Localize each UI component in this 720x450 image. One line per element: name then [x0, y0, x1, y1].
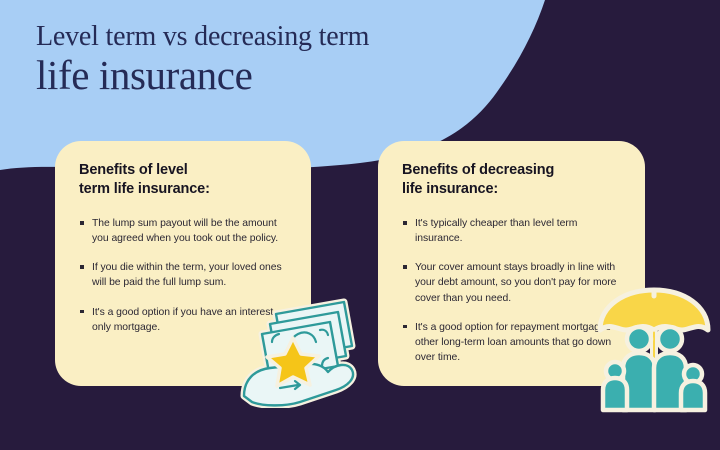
bullet-dot-icon	[80, 310, 84, 314]
list-item: The lump sum payout will be the amount y…	[79, 216, 289, 246]
bullet-dot-icon	[403, 325, 407, 329]
list-item-text: It's typically cheaper than level term i…	[415, 218, 577, 244]
list-item-text: It's a good option for repayment mortgag…	[415, 322, 623, 363]
title-line-1: Level term vs decreasing term	[36, 22, 506, 52]
list-item: It's typically cheaper than level term i…	[402, 216, 623, 246]
bullet-dot-icon	[80, 221, 84, 225]
bullet-dot-icon	[403, 265, 407, 269]
list-item-text: If you die within the term, your loved o…	[92, 262, 282, 288]
title-line-2: life insurance	[36, 53, 506, 98]
card-level-term-title: Benefits of level term life insurance:	[79, 161, 289, 199]
card-decreasing-term-title: Benefits of decreasing life insurance:	[402, 161, 623, 199]
bullet-dot-icon	[80, 265, 84, 269]
card-decreasing-term-bullet-list: It's typically cheaper than level term i…	[402, 216, 623, 365]
list-item: Your cover amount stays broadly in line …	[402, 260, 623, 305]
family-under-umbrella-icon	[596, 286, 712, 414]
list-item: If you die within the term, your loved o…	[79, 260, 289, 290]
infographic-canvas: Level term vs decreasing term life insur…	[0, 0, 720, 450]
list-item-text: Your cover amount stays broadly in line …	[415, 262, 616, 303]
hand-holding-money-icon	[240, 292, 364, 408]
page-title: Level term vs decreasing term life insur…	[36, 22, 506, 98]
bullet-dot-icon	[403, 221, 407, 225]
list-item-text: The lump sum payout will be the amount y…	[92, 218, 278, 244]
list-item: It's a good option for repayment mortgag…	[402, 320, 623, 365]
